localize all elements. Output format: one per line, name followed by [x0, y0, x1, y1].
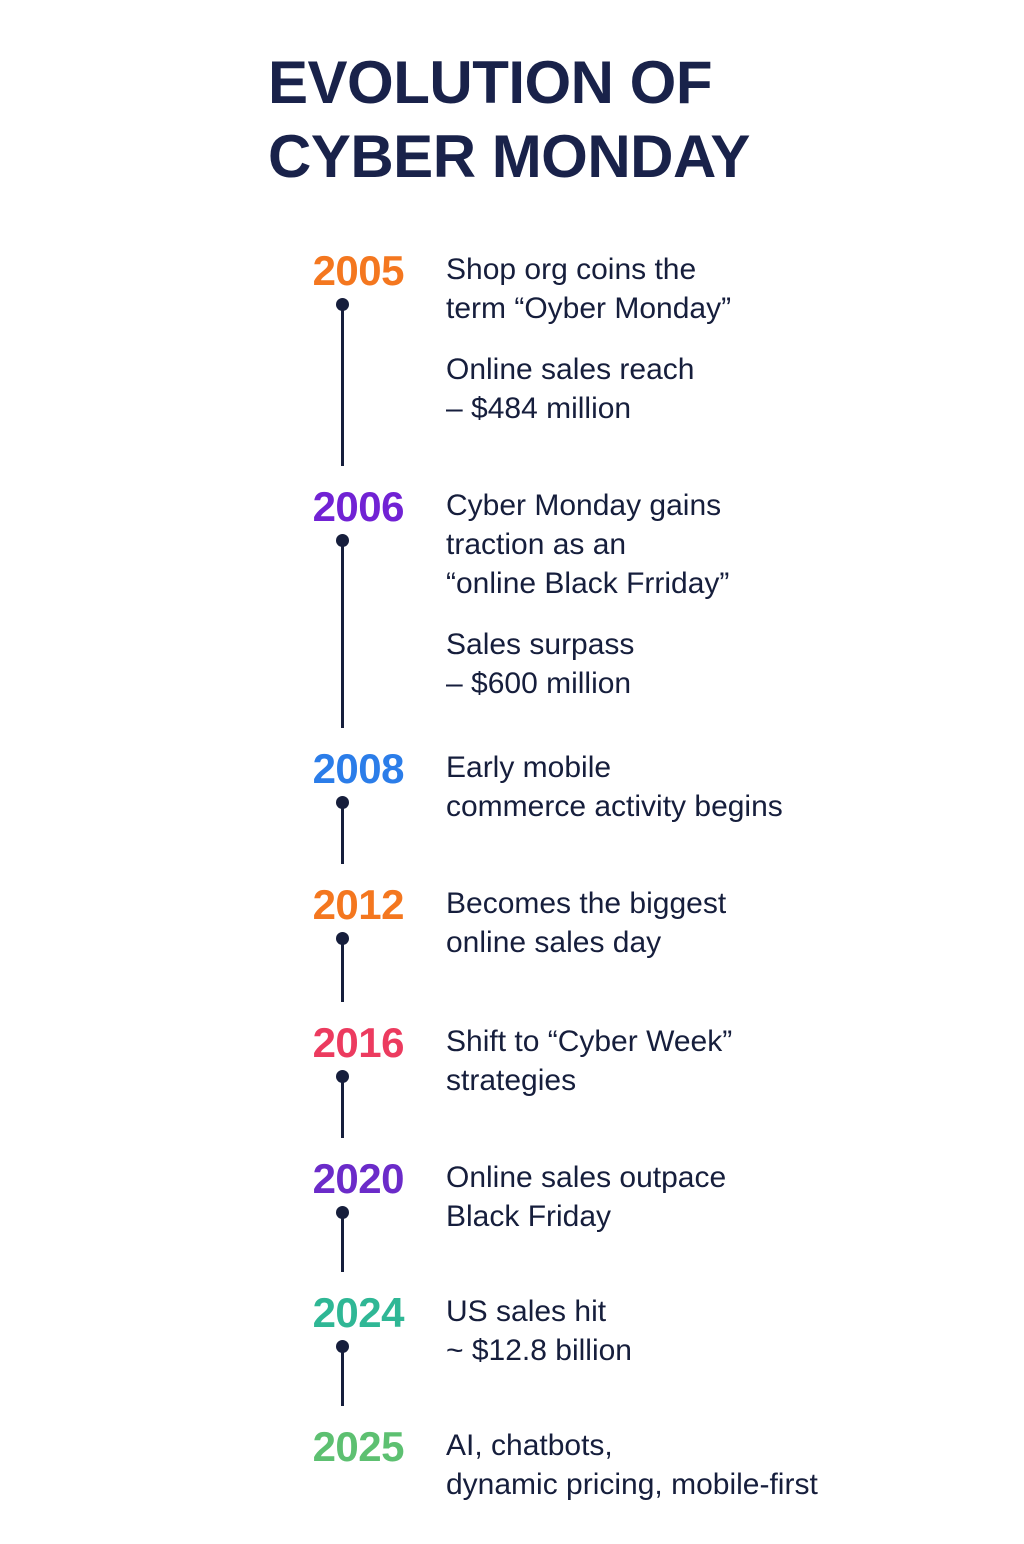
year-label-2008: 2008	[313, 746, 404, 792]
text-column: Early mobile commerce activity begins	[408, 746, 1024, 826]
text-column: Online sales outpace Black Friday	[408, 1156, 1024, 1236]
event-description-primary: Online sales outpace Black Friday	[446, 1158, 1024, 1236]
timeline-stem	[341, 1076, 344, 1138]
text-column: Shift to “Cyber Week” strategies	[408, 1020, 1024, 1100]
timeline-entry-2025: 2025 AI, chatbots, dynamic pricing, mobi…	[0, 1424, 1024, 1544]
event-description-primary: Cyber Monday gains traction as an “onlin…	[446, 486, 1024, 603]
event-description-primary: Becomes the biggest online sales day	[446, 884, 1024, 962]
year-label-2016: 2016	[313, 1020, 404, 1066]
event-description-primary: Early mobile commerce activity begins	[446, 748, 1024, 826]
timeline-stem	[341, 802, 344, 864]
year-column: 2025	[0, 1424, 408, 1470]
year-label-2006: 2006	[313, 484, 404, 530]
year-column: 2020	[0, 1156, 408, 1202]
year-label-2024: 2024	[313, 1290, 404, 1336]
event-description-primary: US sales hit ~ $12.8 billion	[446, 1292, 1024, 1370]
event-description-primary: Shop org coins the term “Oyber Monday”	[446, 250, 1024, 328]
title-line-2: CYBER MONDAY	[268, 120, 968, 194]
timeline-stem	[341, 304, 344, 466]
timeline-entry-2016: 2016 Shift to “Cyber Week” strategies	[0, 1020, 1024, 1156]
year-column: 2008	[0, 746, 408, 792]
text-column: Cyber Monday gains traction as an “onlin…	[408, 484, 1024, 703]
timeline-entry-2008: 2008 Early mobile commerce activity begi…	[0, 746, 1024, 882]
text-column: Becomes the biggest online sales day	[408, 882, 1024, 962]
event-description-primary: Shift to “Cyber Week” strategies	[446, 1022, 1024, 1100]
page-title: EVOLUTION OF CYBER MONDAY	[268, 46, 968, 194]
timeline-entry-2005: 2005 Shop org coins the term “Oyber Mond…	[0, 248, 1024, 484]
year-column: 2012	[0, 882, 408, 928]
text-column: AI, chatbots, dynamic pricing, mobile-fi…	[408, 1424, 1024, 1504]
title-line-1: EVOLUTION OF	[268, 46, 968, 120]
text-column: US sales hit ~ $12.8 billion	[408, 1290, 1024, 1370]
event-description-secondary: Online sales reach – $484 million	[446, 350, 1024, 428]
timeline-entry-2024: 2024 US sales hit ~ $12.8 billion	[0, 1290, 1024, 1424]
event-description-primary: AI, chatbots, dynamic pricing, mobile-fi…	[446, 1426, 1024, 1504]
timeline-entry-2006: 2006 Cyber Monday gains traction as an “…	[0, 484, 1024, 746]
timeline-stem	[341, 938, 344, 1002]
timeline-stem	[341, 1212, 344, 1272]
year-column: 2024	[0, 1290, 408, 1336]
year-column: 2016	[0, 1020, 408, 1066]
timeline-entry-2020: 2020 Online sales outpace Black Friday	[0, 1156, 1024, 1290]
text-column: Shop org coins the term “Oyber Monday” O…	[408, 248, 1024, 428]
timeline: 2005 Shop org coins the term “Oyber Mond…	[0, 248, 1024, 1544]
year-label-2025: 2025	[313, 1424, 404, 1470]
timeline-stem	[341, 1346, 344, 1406]
year-label-2012: 2012	[313, 882, 404, 928]
year-column: 2006	[0, 484, 408, 530]
year-column: 2005	[0, 248, 408, 294]
year-label-2020: 2020	[313, 1156, 404, 1202]
timeline-stem	[341, 540, 344, 728]
event-description-secondary: Sales surpass – $600 million	[446, 625, 1024, 703]
year-label-2005: 2005	[313, 248, 404, 294]
infographic-canvas: EVOLUTION OF CYBER MONDAY 2005 Shop org …	[0, 0, 1024, 1536]
timeline-entry-2012: 2012 Becomes the biggest online sales da…	[0, 882, 1024, 1020]
